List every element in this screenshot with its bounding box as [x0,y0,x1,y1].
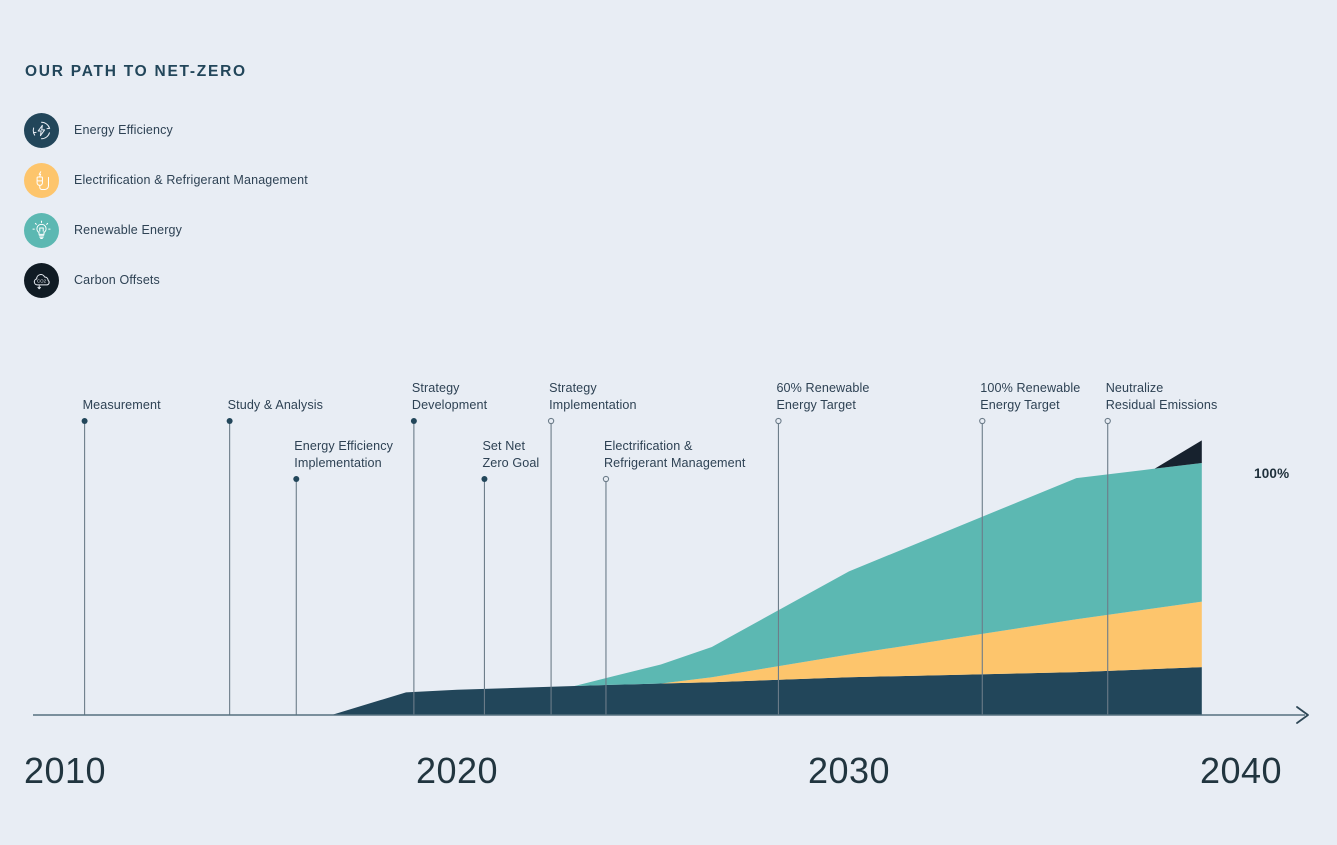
milestone-label: Study & Analysis [228,398,323,412]
year-tick-2020: 2020 [416,750,498,791]
net-zero-stacked-area-chart: MeasurementStudy & AnalysisEnergy Effici… [0,0,1337,845]
milestone-set-net-zero-goal[interactable]: Set NetZero Goal [481,439,539,715]
end-total-label: 100% [1254,466,1289,481]
milestone-label: 60% RenewableEnergy Target [776,381,869,412]
milestone-label: NeutralizeResidual Emissions [1106,381,1218,412]
milestone-label: Measurement [83,398,161,412]
milestone-marker-filled[interactable] [293,476,299,482]
milestone-label: StrategyDevelopment [412,381,488,412]
milestone-marker-open[interactable] [1105,418,1110,423]
year-tick-2030: 2030 [808,750,890,791]
infographic-page: Our Path to Net-Zero Energy Efficiency E… [0,0,1337,845]
year-tick-2040: 2040 [1200,750,1282,791]
milestone-marker-filled[interactable] [227,418,233,424]
milestone-label: 100% RenewableEnergy Target [980,381,1080,412]
milestone-marker-open[interactable] [776,418,781,423]
milestone-marker-filled[interactable] [411,418,417,424]
year-tick-2010: 2010 [24,750,106,791]
milestone-label: Energy EfficiencyImplementation [294,439,393,470]
stacked-area-bands [65,440,1202,715]
milestone-label: Set NetZero Goal [482,439,539,470]
milestone-strategy-implementation[interactable]: StrategyImplementation [548,381,636,715]
milestone-strategy-development[interactable]: StrategyDevelopment [411,381,488,715]
milestone-marker-open[interactable] [548,418,553,423]
milestone-marker-open[interactable] [980,418,985,423]
milestone-measurement[interactable]: Measurement [82,398,161,715]
milestone-marker-open[interactable] [603,476,608,481]
x-axis-tick-labels: 2010202020302040 [24,750,1282,791]
milestone-energy-efficiency-implementation[interactable]: Energy EfficiencyImplementation [293,439,393,715]
milestone-label: Electrification &Refrigerant Management [604,439,746,470]
milestone-marker-filled[interactable] [82,418,88,424]
milestone-marker-filled[interactable] [481,476,487,482]
milestone-label: StrategyImplementation [549,381,637,412]
